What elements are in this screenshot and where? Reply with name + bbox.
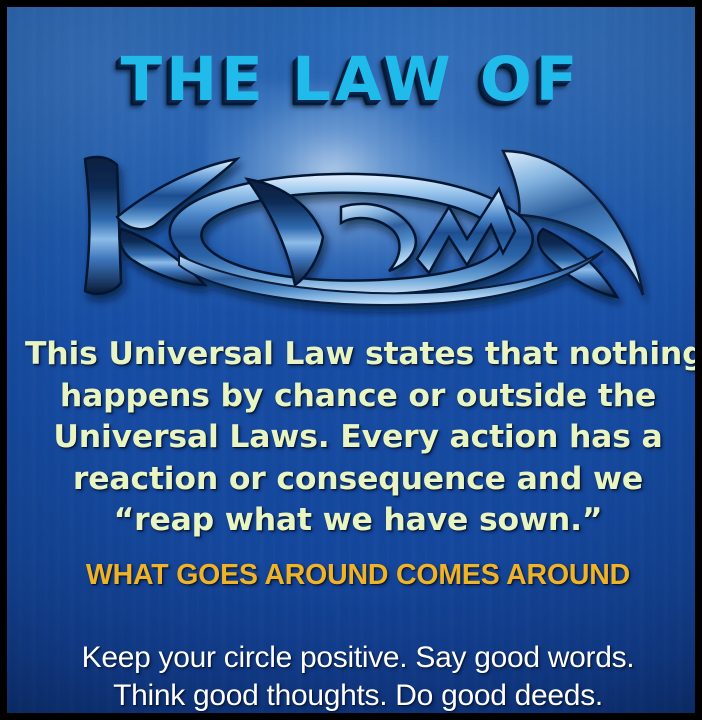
karma-wordmark: KARMA xyxy=(7,133,695,318)
closing-line-2: Think good thoughts. Do good deeds. xyxy=(23,677,693,715)
closing-advice: Keep your circle positive. Say good word… xyxy=(23,639,693,715)
paragraph-line-3: Universal Laws. Every action has a xyxy=(25,417,691,459)
paragraph-line-2: happens by chance or outside the xyxy=(25,376,691,418)
paragraph-line-4: reaction or consequence and we xyxy=(25,459,691,501)
headline-what-goes-around: WHAT GOES AROUND COMES AROUND xyxy=(17,560,699,591)
universal-law-paragraph: This Universal Law states that nothing h… xyxy=(25,334,691,542)
karma-poster: THE LAW OF KARMA xyxy=(0,0,702,720)
poster-title: THE LAW OF xyxy=(7,49,695,110)
poster-content: THE LAW OF KARMA xyxy=(7,7,695,713)
karma-wordmark-text: KARMA xyxy=(7,133,8,134)
paragraph-line-5: “reap what we have sown.” xyxy=(25,500,691,542)
paragraph-line-1: This Universal Law states that nothing xyxy=(25,334,691,376)
closing-line-1: Keep your circle positive. Say good word… xyxy=(23,639,693,677)
karma-wordmark-artwork xyxy=(51,133,651,318)
